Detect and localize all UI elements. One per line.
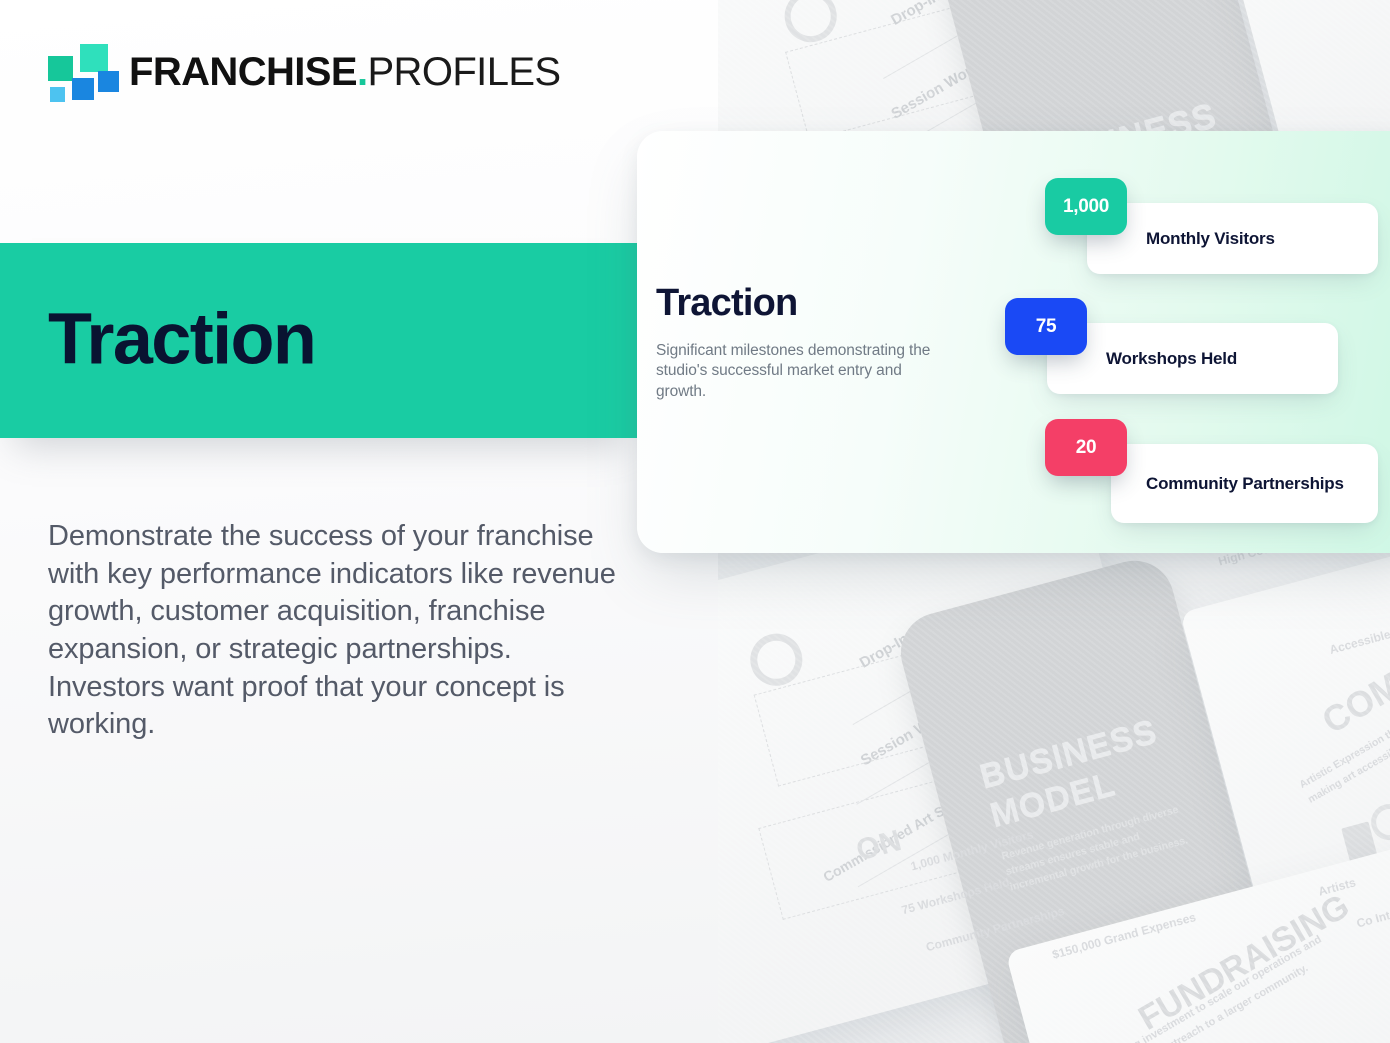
left-content-column: FRANCHISE.PROFILES Traction Demonstrate … bbox=[0, 0, 718, 1043]
stat-row: Workshops Held 75 bbox=[1005, 298, 1390, 394]
traction-preview-panel: Traction Significant milestones demonstr… bbox=[637, 131, 1390, 553]
stat-value: 1,000 bbox=[1063, 196, 1109, 218]
panel-heading-block: Traction Significant milestones demonstr… bbox=[656, 284, 976, 402]
stat-badge: 1,000 bbox=[1045, 178, 1127, 235]
brand-logo-text: FRANCHISE.PROFILES bbox=[129, 52, 561, 92]
stat-label: Monthly Visitors bbox=[1146, 228, 1275, 249]
brand-name-dot: . bbox=[357, 50, 368, 94]
brand-logo[interactable]: FRANCHISE.PROFILES bbox=[48, 44, 561, 100]
stat-label: Workshops Held bbox=[1106, 348, 1237, 369]
section-description: Demonstrate the success of your franchis… bbox=[48, 518, 623, 744]
stat-value: 75 bbox=[1036, 316, 1057, 338]
stat-badge: 75 bbox=[1005, 298, 1087, 355]
stat-card[interactable]: Community Partnerships bbox=[1111, 444, 1378, 523]
five-squares-logo-icon bbox=[48, 44, 110, 100]
section-banner: Traction bbox=[0, 243, 639, 438]
panel-title: Traction bbox=[656, 284, 976, 322]
stat-badge: 20 bbox=[1045, 419, 1127, 476]
brand-name-bold: FRANCHISE bbox=[129, 50, 357, 94]
page-title: Traction bbox=[48, 303, 315, 375]
brand-name-light: PROFILES bbox=[367, 50, 560, 94]
stat-card[interactable]: Monthly Visitors bbox=[1087, 203, 1378, 274]
stat-value: 20 bbox=[1076, 437, 1097, 459]
stat-row: Community Partnerships 20 bbox=[1045, 419, 1390, 519]
stat-card[interactable]: Workshops Held bbox=[1047, 323, 1338, 394]
stat-row: Monthly Visitors 1,000 bbox=[1045, 178, 1390, 274]
stat-label: Community Partnerships bbox=[1146, 473, 1344, 494]
panel-subtitle: Significant milestones demonstrating the… bbox=[656, 341, 956, 402]
